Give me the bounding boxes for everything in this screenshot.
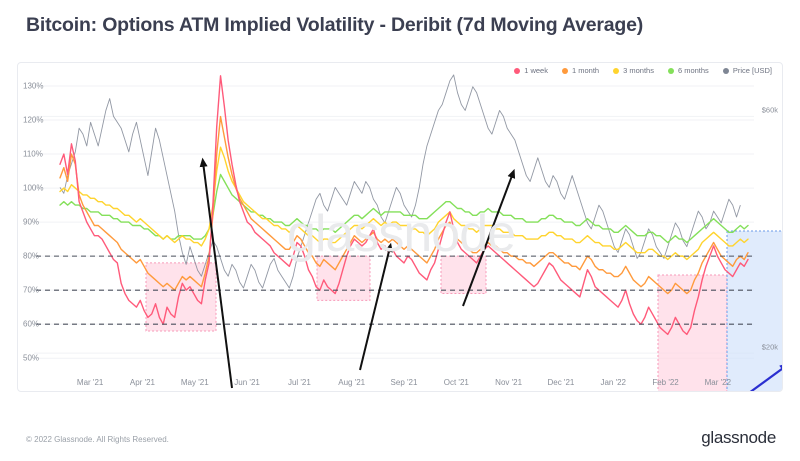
- y-axis-tick-label: 50%: [23, 354, 39, 363]
- x-axis-tick-label: Aug '21: [338, 378, 365, 387]
- y-axis-tick-label: 60%: [23, 320, 39, 329]
- arrow-black-3: [463, 173, 513, 306]
- x-axis-tick-label: Jul '21: [288, 378, 311, 387]
- y-axis-tick-label: 120%: [23, 116, 43, 125]
- legend-color-dot: [613, 68, 619, 74]
- y-axis-tick-label: 70%: [23, 286, 39, 295]
- brand-logo: glassnode: [701, 428, 776, 448]
- x-axis-tick-label: Sep '21: [391, 378, 418, 387]
- legend-label: 1 month: [572, 66, 599, 75]
- legend-label: Price [USD]: [733, 66, 772, 75]
- chart-svg: [18, 63, 783, 391]
- copyright-text: © 2022 Glassnode. All Rights Reserved.: [26, 435, 169, 444]
- right-y-axis-tick-label: $20k: [762, 343, 778, 352]
- chart-page: Bitcoin: Options ATM Implied Volatility …: [0, 0, 800, 461]
- x-axis-tick-label: Apr '21: [130, 378, 155, 387]
- y-axis-tick-label: 110%: [23, 150, 43, 159]
- x-axis-tick-label: Oct '21: [444, 378, 469, 387]
- legend-item-6-months[interactable]: 6 months: [668, 66, 709, 75]
- legend-item-price-usd[interactable]: Price [USD]: [723, 66, 772, 75]
- legend-color-dot: [723, 68, 729, 74]
- y-axis-tick-label: 130%: [23, 82, 43, 91]
- highlight-region-blue-box: [727, 231, 783, 392]
- legend-label: 1 week: [524, 66, 548, 75]
- legend-item-1-week[interactable]: 1 week: [514, 66, 548, 75]
- plot-area: glassnode 50%60%70%80%90%100%110%120%130…: [18, 63, 783, 391]
- y-axis-tick-label: 100%: [23, 184, 43, 193]
- series-line-3-months: [60, 147, 748, 259]
- chart-panel: 1 week1 month3 months6 monthsPrice [USD]…: [17, 62, 783, 392]
- right-y-axis-tick-label: $60k: [762, 106, 778, 115]
- x-axis-tick-label: May '21: [181, 378, 209, 387]
- x-axis-tick-label: Jan '22: [600, 378, 626, 387]
- y-axis-tick-label: 80%: [23, 252, 39, 261]
- legend-color-dot: [562, 68, 568, 74]
- chart-legend: 1 week1 month3 months6 monthsPrice [USD]: [514, 66, 772, 75]
- series-line-6-months: [60, 174, 748, 242]
- y-axis-tick-label: 90%: [23, 218, 39, 227]
- legend-item-3-months[interactable]: 3 months: [613, 66, 654, 75]
- x-axis-tick-label: Nov '21: [495, 378, 522, 387]
- x-axis-tick-label: Mar '21: [77, 378, 103, 387]
- page-title: Bitcoin: Options ATM Implied Volatility …: [26, 14, 643, 37]
- legend-color-dot: [514, 68, 520, 74]
- x-axis-tick-label: Dec '21: [547, 378, 574, 387]
- legend-label: 6 months: [678, 66, 709, 75]
- x-axis-tick-label: Mar '22: [705, 378, 731, 387]
- legend-item-1-month[interactable]: 1 month: [562, 66, 599, 75]
- highlight-region-pink-box-2: [317, 256, 370, 300]
- legend-label: 3 months: [623, 66, 654, 75]
- x-axis-tick-label: Feb '22: [652, 378, 678, 387]
- x-axis-tick-label: Jun '21: [234, 378, 260, 387]
- legend-color-dot: [668, 68, 674, 74]
